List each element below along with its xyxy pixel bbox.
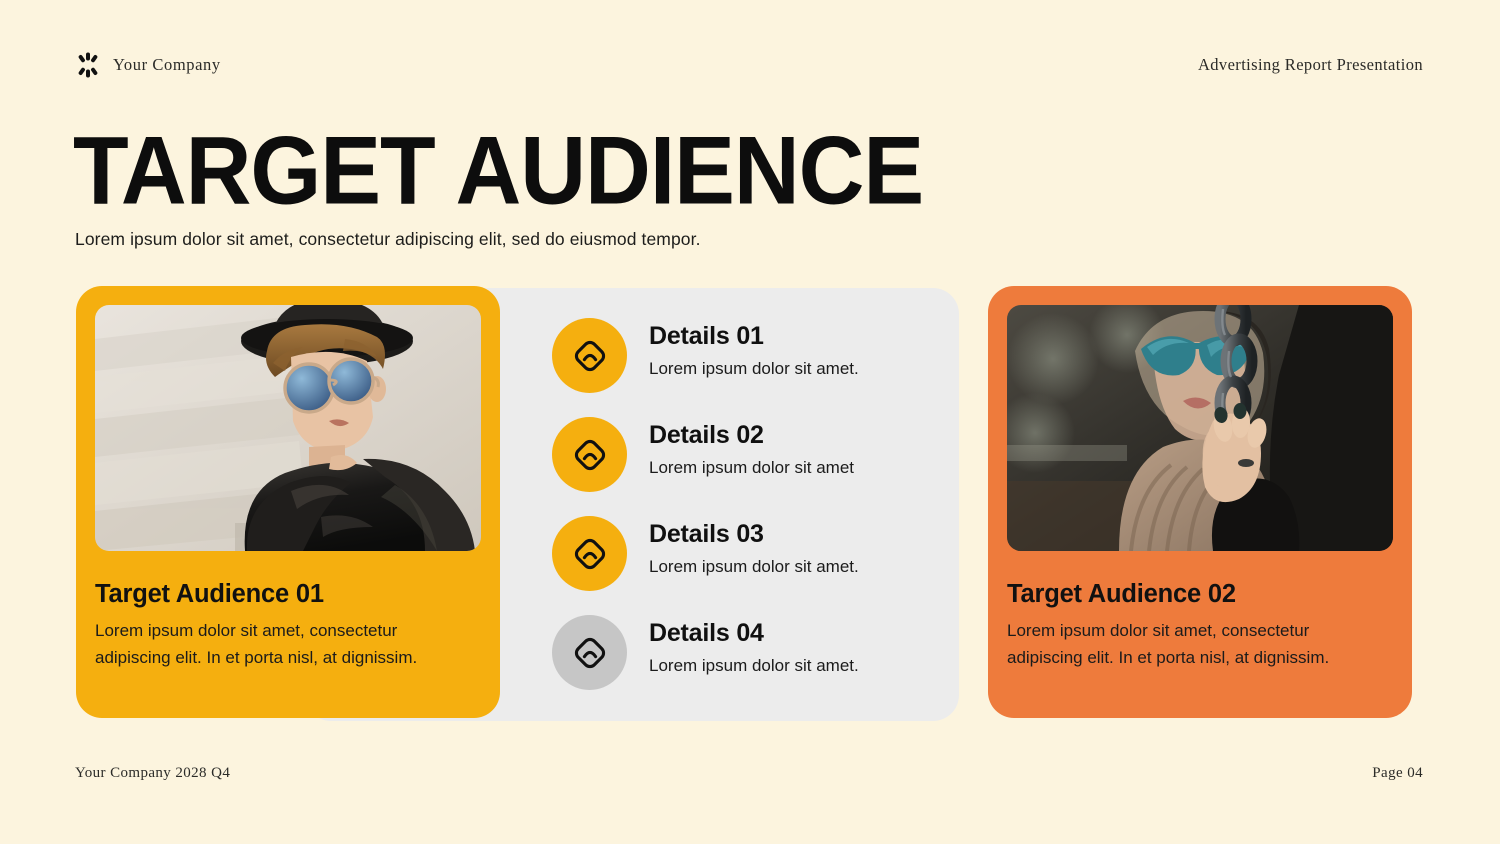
list-item[interactable]: Details 01 Lorem ipsum dolor sit amet. [552, 318, 952, 417]
detail-title-03: Details 03 [649, 520, 859, 549]
detail-desc-04: Lorem ipsum dolor sit amet. [649, 656, 859, 676]
detail-copy-03: Details 03 Lorem ipsum dolor sit amet. [649, 516, 859, 577]
brand-name: Your Company [113, 55, 221, 75]
card-photo-01 [95, 305, 481, 551]
card-photo-02 [1007, 305, 1393, 551]
detail-badge-04 [552, 615, 627, 690]
detail-desc-03: Lorem ipsum dolor sit amet. [649, 557, 859, 577]
footer-page-number: Page 04 [1372, 765, 1423, 782]
detail-badge-03 [552, 516, 627, 591]
card-title-01: Target Audience 01 [95, 580, 481, 609]
diamond-arch-icon [572, 635, 608, 671]
sparkle-asterisk-icon [75, 52, 101, 78]
diamond-arch-icon [572, 437, 608, 473]
detail-copy-02: Details 02 Lorem ipsum dolor sit amet [649, 417, 854, 478]
detail-title-04: Details 04 [649, 619, 859, 648]
footer-left: Your Company 2028 Q4 [75, 765, 230, 782]
brand[interactable]: Your Company [75, 52, 221, 78]
card-text-02: Lorem ipsum dolor sit amet, consectetur … [1007, 618, 1365, 672]
card-title-02: Target Audience 02 [1007, 580, 1393, 609]
detail-badge-02 [552, 417, 627, 492]
slide: Your Company Advertising Report Presenta… [0, 0, 1500, 844]
card-target-audience-01[interactable]: Target Audience 01 Lorem ipsum dolor sit… [76, 286, 500, 718]
detail-badge-01 [552, 318, 627, 393]
details-list: Details 01 Lorem ipsum dolor sit amet. D… [552, 318, 952, 714]
page-subtitle: Lorem ipsum dolor sit amet, consectetur … [75, 229, 701, 250]
page-title: TARGET AUDIENCE [73, 126, 923, 217]
list-item[interactable]: Details 03 Lorem ipsum dolor sit amet. [552, 516, 952, 615]
card-target-audience-02[interactable]: Target Audience 02 Lorem ipsum dolor sit… [988, 286, 1412, 718]
detail-desc-01: Lorem ipsum dolor sit amet. [649, 359, 859, 379]
list-item[interactable]: Details 04 Lorem ipsum dolor sit amet. [552, 615, 952, 714]
detail-copy-04: Details 04 Lorem ipsum dolor sit amet. [649, 615, 859, 676]
header-right-label: Advertising Report Presentation [1198, 55, 1423, 75]
photo-man-leather-jacket [95, 305, 481, 551]
detail-title-01: Details 01 [649, 322, 859, 351]
diamond-arch-icon [572, 536, 608, 572]
diamond-arch-icon [572, 338, 608, 374]
photo-woman-chain [1007, 305, 1393, 551]
slide-header: Your Company Advertising Report Presenta… [75, 52, 1423, 78]
list-item[interactable]: Details 02 Lorem ipsum dolor sit amet [552, 417, 952, 516]
detail-desc-02: Lorem ipsum dolor sit amet [649, 458, 854, 478]
slide-footer: Your Company 2028 Q4 Page 04 [75, 765, 1423, 782]
detail-copy-01: Details 01 Lorem ipsum dolor sit amet. [649, 318, 859, 379]
detail-title-02: Details 02 [649, 421, 854, 450]
card-text-01: Lorem ipsum dolor sit amet, consectetur … [95, 618, 453, 672]
